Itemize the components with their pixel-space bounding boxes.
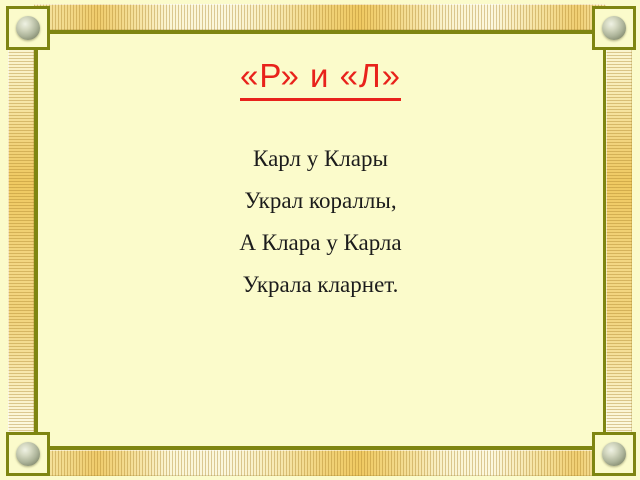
stud-icon [16,442,40,466]
bottom-ornament-band [34,450,606,476]
stud-icon [602,16,626,40]
verse-line: Украл кораллы, [38,180,603,222]
slide-title-text: «Р» и «Л» [240,58,401,101]
top-ornament-band [34,4,606,30]
slide-title: «Р» и «Л» [38,58,603,101]
tongue-twister-verse: Карл у Клары Украл кораллы, А Клара у Ка… [38,138,603,306]
verse-line: Карл у Клары [38,138,603,180]
slide-canvas: «Р» и «Л» Карл у Клары Украл кораллы, А … [0,0,640,480]
verse-line: А Клара у Карла [38,222,603,264]
left-ornament-band [8,34,34,446]
right-ornament-band [606,34,632,446]
stud-icon [16,16,40,40]
frame-rule-bottom [34,446,606,450]
slide-content: «Р» и «Л» Карл у Клары Украл кораллы, А … [38,40,603,440]
stud-icon [602,442,626,466]
verse-line: Украла кларнет. [38,264,603,306]
frame-rule-top [34,30,606,34]
